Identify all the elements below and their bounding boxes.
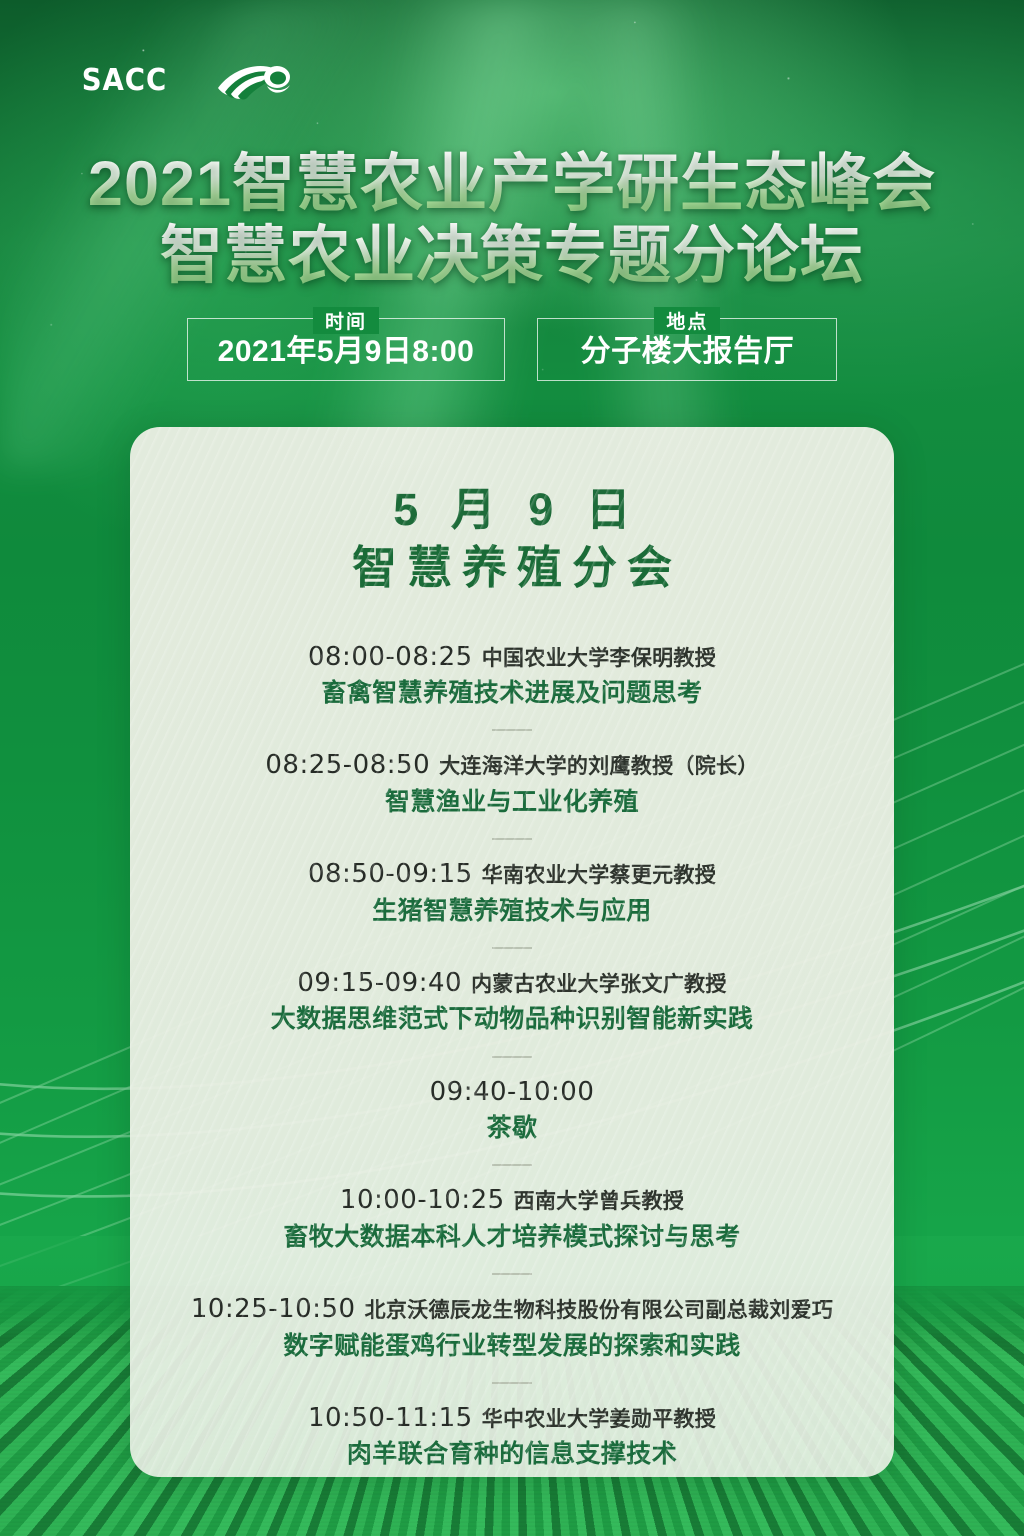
agenda-separator <box>492 838 532 840</box>
agenda-separator <box>492 1164 532 1166</box>
agenda-item-speaker: 大连海洋大学的刘鹰教授（院长） <box>439 755 759 778</box>
agenda-item-speaker: 中国农业大学李保明教授 <box>482 647 716 670</box>
agenda-item-time: 10:00-10:25 <box>340 1185 505 1215</box>
time-value: 2021年5月9日8:00 <box>218 335 475 368</box>
leaf-logo-icon <box>215 58 293 104</box>
title-block: 2021智慧农业产学研生态峰会 智慧农业决策专题分论坛 <box>0 150 1024 290</box>
event-title-line-1: 2021智慧农业产学研生态峰会 <box>0 150 1024 218</box>
agenda-item-topic: 畜牧大数据本科人才培养模式探讨与思考 <box>148 1219 876 1255</box>
venue-value: 分子楼大报告厅 <box>568 335 806 368</box>
brand-bar: SACC <box>78 58 293 104</box>
agenda-item-topic: 畜禽智慧养殖技术进展及问题思考 <box>148 675 876 711</box>
agenda-item-header: 08:25-08:50大连海洋大学的刘鹰教授（院长） <box>148 749 876 782</box>
event-title-line-2: 智慧农业决策专题分论坛 <box>0 222 1024 290</box>
agenda-item-speaker: 内蒙古农业大学张文广教授 <box>471 973 727 996</box>
agenda-item-speaker: 华南农业大学蔡更元教授 <box>482 864 716 887</box>
time-box: 时间 2021年5月9日8:00 <box>187 318 506 381</box>
agenda-item-header: 10:25-10:50北京沃德辰龙生物科技股份有限公司副总裁刘爱巧 <box>148 1293 876 1326</box>
agenda-item-topic: 数字赋能蛋鸡行业转型发展的探索和实践 <box>148 1328 876 1364</box>
agenda-item-header: 10:50-11:15华中农业大学姜勋平教授 <box>148 1402 876 1435</box>
agenda-item-time: 08:50-09:15 <box>308 859 473 889</box>
agenda-item-header: 09:15-09:40内蒙古农业大学张文广教授 <box>148 967 876 1000</box>
agenda-item-speaker: 北京沃德辰龙生物科技股份有限公司副总裁刘爱巧 <box>365 1299 834 1322</box>
venue-box: 地点 分子楼大报告厅 <box>537 318 837 381</box>
agenda-item-header: 10:00-10:25西南大学曾兵教授 <box>148 1184 876 1217</box>
card-session-title: 智慧养殖分会 <box>130 540 894 596</box>
agenda-item-topic: 大数据思维范式下动物品种识别智能新实践 <box>148 1001 876 1037</box>
agenda-item: 08:25-08:50大连海洋大学的刘鹰教授（院长）智慧渔业与工业化养殖 <box>148 747 876 822</box>
agenda-separator <box>492 1382 532 1384</box>
agenda-item-header: 08:50-09:15华南农业大学蔡更元教授 <box>148 858 876 891</box>
agenda-item-time: 08:00-08:25 <box>308 642 473 672</box>
agenda-item: 08:50-09:15华南农业大学蔡更元教授生猪智慧养殖技术与应用 <box>148 856 876 931</box>
agenda-separator <box>492 1056 532 1058</box>
agenda-item-speaker: 西南大学曾兵教授 <box>514 1190 684 1213</box>
agenda-card: 5 月 9 日 智慧养殖分会 08:00-08:25中国农业大学李保明教授畜禽智… <box>130 427 894 1477</box>
agenda-item-speaker: 华中农业大学姜勋平教授 <box>482 1408 716 1431</box>
agenda-item-topic: 肉羊联合育种的信息支撑技术 <box>148 1436 876 1472</box>
sacc-wordmark: SACC <box>82 66 167 96</box>
agenda-item-time: 10:25-10:50 <box>191 1294 356 1324</box>
agenda-item-time: 08:25-08:50 <box>265 750 430 780</box>
agenda-list: 08:00-08:25中国农业大学李保明教授畜禽智慧养殖技术进展及问题思考08:… <box>130 639 894 1475</box>
agenda-item-time: 09:15-09:40 <box>297 968 462 998</box>
agenda-item: 09:40-10:00茶歇 <box>148 1074 876 1149</box>
agenda-item: 10:50-11:15华中农业大学姜勋平教授肉羊联合育种的信息支撑技术 <box>148 1400 876 1475</box>
venue-label: 地点 <box>654 307 720 334</box>
agenda-separator <box>492 947 532 949</box>
agenda-item-time: 10:50-11:15 <box>308 1403 473 1433</box>
agenda-item-topic: 茶歇 <box>148 1110 876 1146</box>
agenda-separator <box>492 729 532 731</box>
agenda-item-topic: 生猪智慧养殖技术与应用 <box>148 893 876 929</box>
agenda-item-topic: 智慧渔业与工业化养殖 <box>148 784 876 820</box>
time-label: 时间 <box>313 307 379 334</box>
agenda-item-header: 08:00-08:25中国农业大学李保明教授 <box>148 641 876 674</box>
agenda-item: 08:00-08:25中国农业大学李保明教授畜禽智慧养殖技术进展及问题思考 <box>148 639 876 714</box>
agenda-item: 10:00-10:25西南大学曾兵教授畜牧大数据本科人才培养模式探讨与思考 <box>148 1182 876 1257</box>
agenda-item-time: 09:40-10:00 <box>430 1077 595 1107</box>
agenda-separator <box>492 1273 532 1275</box>
poster-root: SACC 2021智慧农业产学研生态峰会 智慧农业决策专题分论坛 时间 2021… <box>0 0 1024 1536</box>
meta-row: 时间 2021年5月9日8:00 地点 分子楼大报告厅 <box>0 318 1024 381</box>
card-header: 5 月 9 日 智慧养殖分会 <box>130 427 894 597</box>
card-date: 5 月 9 日 <box>130 482 894 538</box>
agenda-item: 09:15-09:40内蒙古农业大学张文广教授大数据思维范式下动物品种识别智能新… <box>148 965 876 1040</box>
agenda-item: 10:25-10:50北京沃德辰龙生物科技股份有限公司副总裁刘爱巧数字赋能蛋鸡行… <box>148 1291 876 1366</box>
agenda-item-header: 09:40-10:00 <box>148 1076 876 1109</box>
